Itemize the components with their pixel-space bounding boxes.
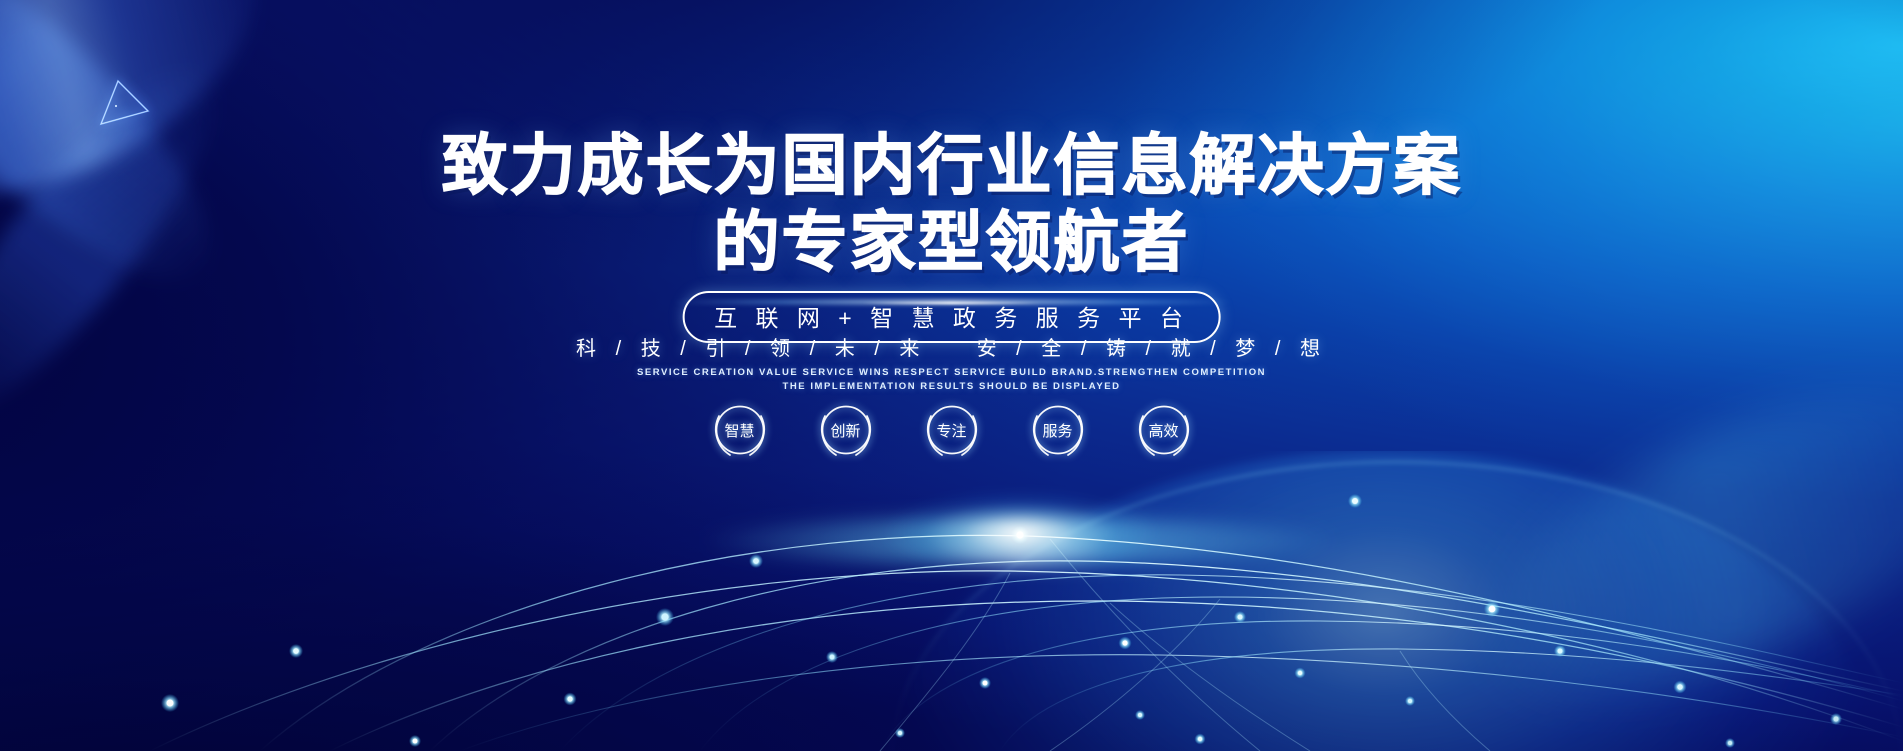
keyword-circle-chuangxin[interactable]: 创新 — [814, 398, 878, 462]
keyword-circle-label: 智慧 — [724, 420, 754, 441]
keyword-circle-label: 高效 — [1148, 420, 1178, 441]
keyword-circle-zhuanzhu[interactable]: 专注 — [920, 398, 984, 462]
slogan-text: 科 / 技 / 引 / 领 / 未 / 来 安 / 全 / 铸 / 就 / 梦 … — [0, 332, 1903, 361]
keyword-circle-label: 专注 — [936, 420, 966, 441]
english-subtitle: SERVICE CREATION VALUE SERVICE WINS RESP… — [0, 366, 1903, 394]
headline-line-1: 致力成长为国内行业信息解决方案 — [442, 128, 1462, 202]
keyword-circle-zhihui[interactable]: 智慧 — [708, 398, 772, 462]
keyword-circle-fuwu[interactable]: 服务 — [1026, 398, 1090, 462]
headline-line-2: 的专家型领航者 — [0, 209, 1903, 276]
keyword-circle-label: 创新 — [830, 420, 860, 441]
banner-content: 致力成长为国内行业信息解决方案 的专家型领航者 互 联 网 + 智 慧 政 务 … — [0, 0, 1903, 751]
english-subtitle-line-1: SERVICE CREATION VALUE SERVICE WINS RESP… — [0, 366, 1903, 380]
keyword-circle-label: 服务 — [1042, 420, 1072, 441]
promo-banner: 致力成长为国内行业信息解决方案 的专家型领航者 互 联 网 + 智 慧 政 务 … — [0, 0, 1903, 751]
page-title: 致力成长为国内行业信息解决方案 的专家型领航者 — [0, 132, 1903, 277]
english-subtitle-line-2: THE IMPLEMENTATION RESULTS SHOULD BE DIS… — [0, 380, 1903, 394]
keyword-circle-list: 智慧 创新 专注 — [0, 398, 1903, 462]
keyword-circle-gaoxiao[interactable]: 高效 — [1132, 398, 1196, 462]
